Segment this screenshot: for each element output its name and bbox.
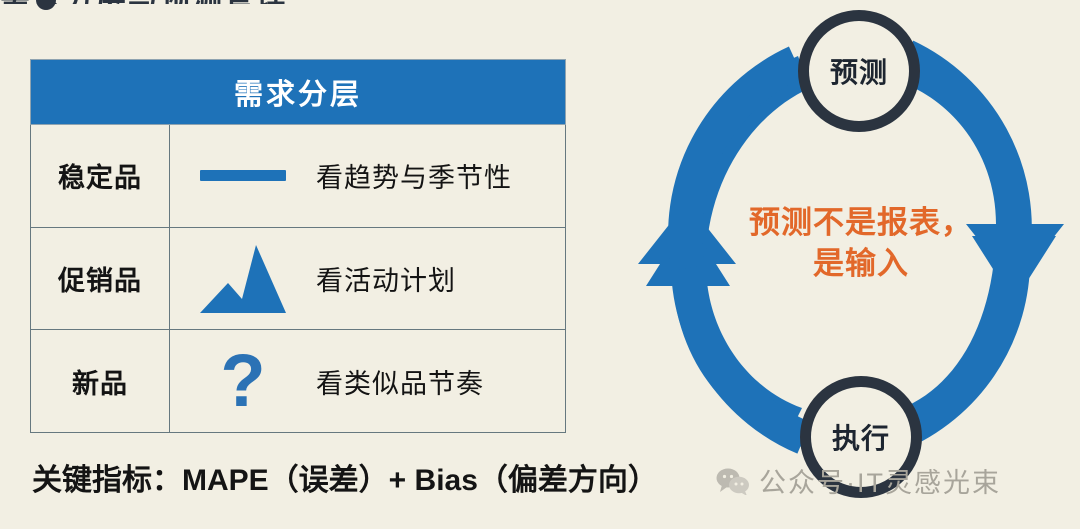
row-desc-new: 看类似品节奏 xyxy=(316,362,484,401)
cycle-node-forecast-label: 预测 xyxy=(830,51,888,91)
row-name-stable: 稳定品 xyxy=(31,125,170,227)
spike-chart-svg xyxy=(198,243,288,315)
flat-line-icon xyxy=(170,125,316,227)
row-desc-stable: 看趋势与季节性 xyxy=(316,156,512,195)
table-row: 新品 ? 看类似品节奏 xyxy=(31,330,565,432)
spike-chart-icon xyxy=(170,228,316,330)
row-content-promo: 看活动计划 xyxy=(170,228,565,330)
slogan-line-1: 预测不是报表， xyxy=(716,203,1006,244)
key-metrics-caption: 关键指标：MAPE（误差）+ Bias（偏差方向） xyxy=(32,455,658,499)
cycle-node-execute-label: 执行 xyxy=(832,417,890,457)
watermark-text: 公众号·IT灵感光束 xyxy=(759,461,1001,500)
row-desc-promo: 看活动计划 xyxy=(316,259,456,298)
cycle-center-slogan: 预测不是报表， 是输入 xyxy=(716,203,1006,285)
table-header: 需求分层 xyxy=(30,59,566,125)
ring-left-lower xyxy=(688,268,804,438)
row-name-new: 新品 xyxy=(31,330,170,432)
table-body: 稳定品 看趋势与季节性 促销品 看活动计划 xyxy=(30,125,566,433)
row-content-stable: 看趋势与季节性 xyxy=(170,125,565,227)
table-row: 稳定品 看趋势与季节性 xyxy=(31,125,565,228)
watermark: 公众号·IT灵感光束 xyxy=(716,461,1001,500)
page-title: 需求分层与预测管理 xyxy=(0,0,700,4)
cycle-node-forecast: 预测 xyxy=(798,10,920,132)
row-name-promo: 促销品 xyxy=(31,228,170,330)
slide-canvas: 需求分层与预测管理 需求分层 稳定品 看趋势与季节性 促销品 xyxy=(0,0,1080,529)
question-mark-icon: ? xyxy=(170,330,316,432)
wechat-icon xyxy=(716,467,750,495)
row-content-new: ? 看类似品节奏 xyxy=(170,330,565,432)
table-row: 促销品 看活动计划 xyxy=(31,228,565,331)
table-header-label: 需求分层 xyxy=(234,71,362,113)
slogan-line-2: 是输入 xyxy=(716,244,1006,285)
demand-tier-table: 需求分层 稳定品 看趋势与季节性 促销品 xyxy=(30,59,566,433)
